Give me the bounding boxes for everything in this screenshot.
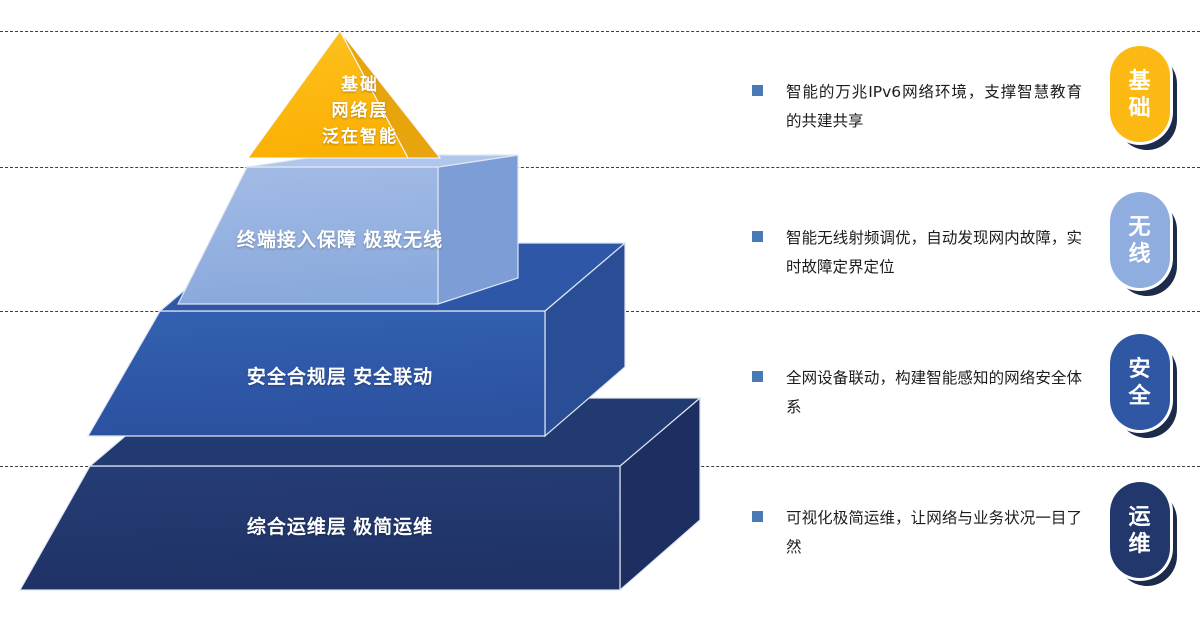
badge-foundation[interactable]: 基 础: [1108, 46, 1182, 150]
description-item-foundation: 智能的万兆IPv6网络环境，支撑智慧教育的共建共享: [752, 78, 1082, 136]
badge-body-operations[interactable]: 运 维: [1110, 482, 1170, 578]
bullet-square-icon: [752, 371, 763, 382]
bullet-square-icon: [752, 511, 763, 522]
layer-side-face-wireless: [438, 155, 518, 304]
layer-front-face-operations: [20, 466, 620, 590]
layer-front-face-wireless: [178, 167, 438, 304]
badge-char-2: 础: [1128, 94, 1151, 121]
description-item-operations: 可视化极简运维，让网络与业务状况一目了然: [752, 504, 1082, 562]
pyramid-layer-foundation[interactable]: [248, 31, 440, 158]
description-item-security: 全网设备联动，构建智能感知的网络安全体系: [752, 364, 1082, 422]
badge-char-1: 安: [1128, 355, 1151, 382]
badge-body-wireless[interactable]: 无 线: [1110, 192, 1170, 288]
layer-front-face-security: [88, 311, 545, 436]
description-text-foundation: 智能的万兆IPv6网络环境，支撑智慧教育的共建共享: [786, 78, 1082, 136]
description-item-wireless: 智能无线射频调优，自动发现网内故障，实时故障定界定位: [752, 224, 1082, 282]
description-text-wireless: 智能无线射频调优，自动发现网内故障，实时故障定界定位: [786, 224, 1082, 282]
description-text-operations: 可视化极简运维，让网络与业务状况一目了然: [786, 504, 1082, 562]
badge-body-security[interactable]: 安 全: [1110, 334, 1170, 430]
description-text-security: 全网设备联动，构建智能感知的网络安全体系: [786, 364, 1082, 422]
slide-canvas: 基础 网络层 泛在智能 终端接入保障 极致无线 安全合规层 安全联动 综合运维层…: [0, 0, 1200, 620]
bullet-square-icon: [752, 85, 763, 96]
badge-char-1: 运: [1128, 503, 1151, 530]
badge-char-2: 维: [1128, 530, 1151, 557]
badge-wireless[interactable]: 无 线: [1108, 192, 1182, 296]
badge-char-2: 线: [1128, 240, 1151, 267]
badge-operations[interactable]: 运 维: [1108, 482, 1182, 586]
badge-char-1: 无: [1128, 213, 1151, 240]
badge-char-1: 基: [1128, 67, 1151, 94]
badge-security[interactable]: 安 全: [1108, 334, 1182, 438]
pyramid-diagram: [0, 0, 790, 620]
pyramid-layer-wireless[interactable]: [178, 155, 520, 304]
badge-body-foundation[interactable]: 基 础: [1110, 46, 1170, 142]
badge-char-2: 全: [1128, 382, 1151, 409]
bullet-square-icon: [752, 231, 763, 242]
